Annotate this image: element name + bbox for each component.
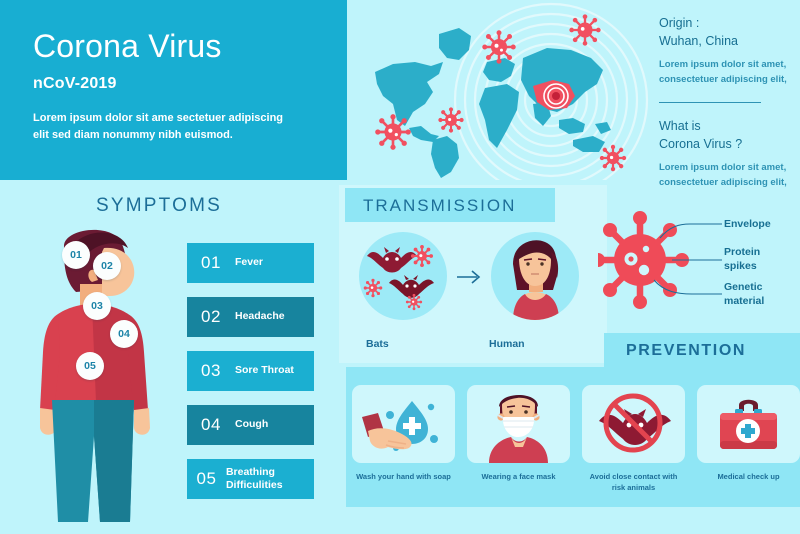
symptom-number: 05 bbox=[187, 469, 226, 489]
world-map-icon bbox=[347, 0, 657, 180]
definition-description: Lorem ipsum dolor sit amet, consectetuer… bbox=[659, 161, 789, 190]
prevention-title-tag: PREVENTION bbox=[604, 333, 800, 367]
origin-description: Lorem ipsum dolor sit amet, consectetuer… bbox=[659, 58, 789, 87]
symptom-marker-02[interactable]: 02 bbox=[93, 252, 121, 280]
symptom-item-01[interactable]: 01 Fever bbox=[187, 243, 314, 283]
no-bat-contact-icon bbox=[582, 385, 685, 463]
symptoms-title: SYMPTOMS bbox=[96, 195, 222, 217]
symptom-number: 02 bbox=[187, 307, 235, 327]
definition-heading-line1: What is bbox=[659, 117, 789, 135]
symptoms-list: 01 Fever 02 Headache 03 Sore Throat 04 C… bbox=[187, 243, 314, 513]
human-icon bbox=[491, 232, 579, 320]
arrow-right-icon bbox=[457, 268, 483, 286]
symptom-number: 04 bbox=[187, 415, 235, 435]
symptom-marker-01[interactable]: 01 bbox=[62, 241, 90, 269]
prevention-title: PREVENTION bbox=[626, 342, 746, 360]
origin-column: Origin : Wuhan, China Lorem ipsum dolor … bbox=[659, 14, 789, 191]
medical-kit-icon bbox=[697, 385, 800, 463]
definition-heading: What is Corona Virus ? bbox=[659, 117, 789, 153]
symptom-item-04[interactable]: 04 Cough bbox=[187, 405, 314, 445]
hand-wash-soap-icon bbox=[352, 385, 455, 463]
page-subtitle: nCoV-2019 bbox=[33, 75, 117, 93]
symptom-label: Headache bbox=[235, 310, 285, 323]
infographic-canvas: Corona Virus nCoV-2019 Lorem ipsum dolor… bbox=[0, 0, 800, 534]
virus-label-envelope: Envelope bbox=[724, 217, 771, 231]
page-title: Corona Virus bbox=[33, 28, 222, 65]
prevention-card-medical-checkup[interactable]: Medical check up bbox=[697, 385, 800, 503]
virus-label-genetic-material: Genetic material bbox=[724, 280, 794, 308]
prevention-card-face-mask[interactable]: Wearing a face mask bbox=[467, 385, 570, 503]
transmission-title: TRANSMISSION bbox=[363, 196, 516, 216]
symptom-marker-03[interactable]: 03 bbox=[83, 292, 111, 320]
prevention-card-avoid-animals[interactable]: Avoid close contact with risk animals bbox=[582, 385, 685, 503]
definition-heading-line2: Corona Virus ? bbox=[659, 135, 789, 153]
origin-heading-line1: Origin : bbox=[659, 14, 789, 32]
prevention-caption: Medical check up bbox=[697, 472, 800, 483]
transmission-source-label: Bats bbox=[366, 338, 389, 350]
prevention-card-list: Wash your hand with soap bbox=[352, 385, 794, 503]
transmission-target-label: Human bbox=[489, 338, 525, 350]
origin-heading: Origin : Wuhan, China bbox=[659, 14, 789, 50]
prevention-caption: Wearing a face mask bbox=[467, 472, 570, 483]
symptom-label: Sore Throat bbox=[235, 364, 294, 377]
virus-anatomy-diagram: Envelope Protein spikes Genetic material bbox=[598, 200, 800, 322]
bats-icon bbox=[359, 232, 447, 320]
header-description: Lorem ipsum dolor sit ame sectetuer adip… bbox=[33, 110, 285, 144]
divider bbox=[659, 102, 761, 104]
virus-label-protein-spikes: Protein spikes bbox=[724, 245, 790, 273]
symptom-item-05[interactable]: 05 Breathing Difficulities bbox=[187, 459, 314, 499]
transmission-title-tag: TRANSMISSION bbox=[345, 188, 555, 222]
symptom-item-03[interactable]: 03 Sore Throat bbox=[187, 351, 314, 391]
prevention-card-wash-hands[interactable]: Wash your hand with soap bbox=[352, 385, 455, 503]
face-mask-icon bbox=[467, 385, 570, 463]
origin-heading-line2: Wuhan, China bbox=[659, 32, 789, 50]
symptom-label: Fever bbox=[235, 256, 263, 269]
prevention-caption: Wash your hand with soap bbox=[352, 472, 455, 483]
symptom-number: 01 bbox=[187, 253, 235, 273]
symptom-label: Cough bbox=[235, 418, 268, 431]
symptom-item-02[interactable]: 02 Headache bbox=[187, 297, 314, 337]
prevention-caption: Avoid close contact with risk animals bbox=[582, 472, 685, 494]
symptom-marker-04[interactable]: 04 bbox=[110, 320, 138, 348]
symptom-label: Breathing Difficulities bbox=[226, 466, 314, 492]
symptom-number: 03 bbox=[187, 361, 235, 381]
symptom-marker-05[interactable]: 05 bbox=[76, 352, 104, 380]
